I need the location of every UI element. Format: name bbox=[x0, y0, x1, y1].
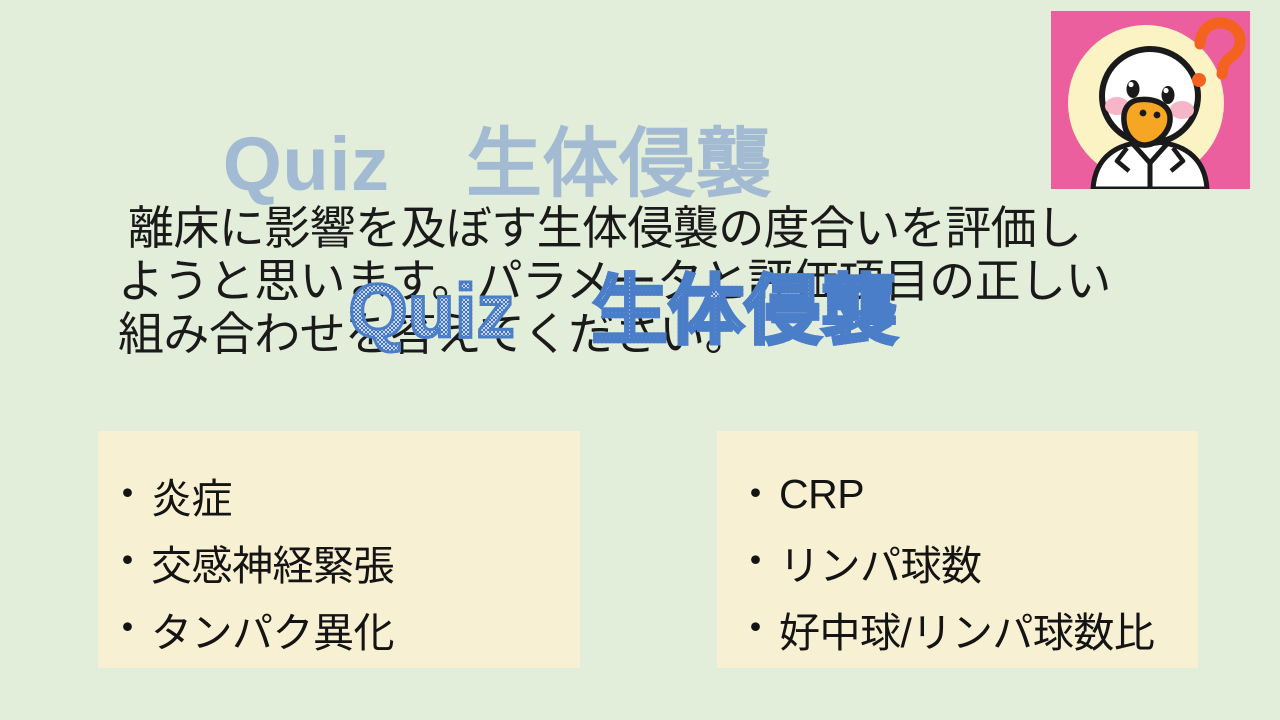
title-shadow-layer: Quiz 生体侵襲 bbox=[223, 127, 772, 203]
list-item-label: 交感神経緊張 bbox=[151, 532, 394, 592]
bullet-icon: ・ bbox=[735, 541, 779, 582]
list-item[interactable]: ・ タンパク異化 bbox=[98, 595, 580, 662]
bullet-icon: ・ bbox=[107, 541, 151, 582]
bullet-icon: ・ bbox=[107, 608, 151, 649]
list-item-label: 好中球/リンパ球数比 bbox=[779, 599, 1154, 659]
list-item[interactable]: ・ 交感神経緊張 bbox=[98, 528, 580, 595]
mascot-image bbox=[1051, 11, 1250, 189]
list-item-label: 炎症 bbox=[151, 465, 232, 525]
evaluation-item-list-box: ・ CRP ・ リンパ球数 ・ 好中球/リンパ球数比 bbox=[717, 431, 1198, 668]
question-line-1: 離床に影響を及ぼす生体侵襲の度合いを評価し bbox=[118, 202, 1148, 255]
parameter-list-box: ・ 炎症 ・ 交感神経緊張 ・ タンパク異化 bbox=[98, 431, 580, 668]
list-item-label: リンパ球数 bbox=[779, 532, 982, 592]
list-item[interactable]: ・ 炎症 bbox=[98, 461, 580, 528]
slide-canvas: Quiz 生体侵襲 Quiz 生体侵襲 bbox=[0, 0, 1280, 720]
list-item[interactable]: ・ リンパ球数 bbox=[717, 528, 1198, 595]
bullet-icon: ・ bbox=[107, 474, 151, 515]
list-item[interactable]: ・ CRP bbox=[717, 461, 1198, 528]
list-item[interactable]: ・ 好中球/リンパ球数比 bbox=[717, 595, 1198, 662]
bullet-icon: ・ bbox=[735, 474, 779, 515]
duck-mascot-icon bbox=[1051, 11, 1250, 189]
bullet-icon: ・ bbox=[735, 608, 779, 649]
list-item-label: CRP bbox=[779, 471, 864, 518]
title-face-layer: Quiz 生体侵襲 bbox=[349, 269, 898, 354]
list-item-label: タンパク異化 bbox=[151, 599, 394, 659]
